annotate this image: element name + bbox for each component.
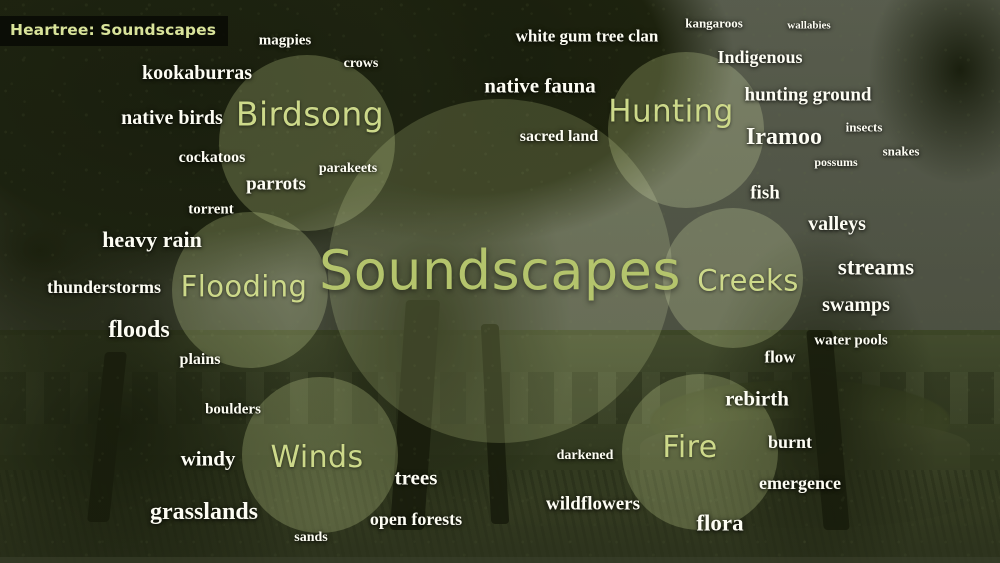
term-insects[interactable]: insects: [846, 121, 883, 134]
term-swamps[interactable]: swamps: [822, 295, 890, 315]
cluster-label-birdsong[interactable]: Birdsong: [236, 98, 384, 131]
term-magpies[interactable]: magpies: [259, 34, 312, 49]
term-emergence[interactable]: emergence: [759, 474, 841, 492]
term-kangaroos[interactable]: kangaroos: [685, 17, 743, 30]
term-flow[interactable]: flow: [764, 349, 795, 366]
term-possums[interactable]: possums: [814, 156, 857, 168]
term-thunderstorms[interactable]: thunderstorms: [47, 278, 161, 296]
term-boulders[interactable]: boulders: [205, 403, 261, 418]
term-heavy-rain[interactable]: heavy rain: [102, 229, 202, 251]
term-wallabies[interactable]: wallabies: [787, 21, 830, 32]
term-wildflowers[interactable]: wildflowers: [546, 495, 640, 514]
term-torrent[interactable]: torrent: [188, 203, 234, 218]
term-open-forests[interactable]: open forests: [370, 510, 462, 528]
term-trees[interactable]: trees: [395, 468, 438, 489]
bottom-strip: [0, 557, 1000, 563]
term-snakes[interactable]: snakes: [883, 145, 920, 158]
term-burnt[interactable]: burnt: [768, 433, 812, 451]
term-hunting-ground[interactable]: hunting ground: [745, 86, 872, 105]
term-kookaburras[interactable]: kookaburras: [142, 63, 252, 83]
term-fish[interactable]: fish: [750, 184, 780, 203]
cluster-label-hunting[interactable]: Hunting: [608, 97, 734, 128]
bubble-hunting[interactable]: [608, 52, 764, 208]
term-floods[interactable]: floods: [108, 318, 169, 342]
term-flora[interactable]: flora: [696, 512, 743, 535]
term-crows[interactable]: crows: [344, 57, 379, 71]
page-title: Heartree: Soundscapes: [0, 16, 228, 46]
term-darkened[interactable]: darkened: [557, 449, 614, 463]
soundscapes-word-cloud: magpieskookaburrascrowsnative birdscocka…: [0, 0, 1000, 563]
term-parrots[interactable]: parrots: [246, 175, 306, 194]
term-sands[interactable]: sands: [294, 531, 327, 545]
term-grasslands[interactable]: grasslands: [150, 500, 258, 524]
term-sacred-land[interactable]: sacred land: [520, 129, 598, 145]
term-native-fauna[interactable]: native fauna: [484, 76, 595, 97]
term-native-birds[interactable]: native birds: [121, 108, 223, 128]
term-water-pools[interactable]: water pools: [814, 334, 887, 349]
term-rebirth[interactable]: rebirth: [725, 389, 789, 410]
term-streams[interactable]: streams: [838, 256, 914, 279]
term-white-gum-tree-clan[interactable]: white gum tree clan: [516, 28, 659, 45]
term-windy[interactable]: windy: [181, 449, 236, 470]
term-iramoo[interactable]: Iramoo: [746, 125, 822, 149]
term-indigenous[interactable]: Indigenous: [717, 48, 802, 66]
term-parakeets[interactable]: parakeets: [319, 162, 377, 176]
term-valleys[interactable]: valleys: [808, 214, 866, 234]
cluster-label-creeks[interactable]: Creeks: [697, 267, 799, 296]
center-label-soundscapes[interactable]: Soundscapes: [319, 244, 681, 298]
cluster-label-flooding[interactable]: Flooding: [181, 273, 308, 302]
term-cockatoos[interactable]: cockatoos: [179, 150, 246, 166]
cluster-label-winds[interactable]: Winds: [270, 443, 363, 473]
term-plains[interactable]: plains: [180, 352, 221, 368]
cluster-label-fire[interactable]: Fire: [662, 433, 717, 463]
